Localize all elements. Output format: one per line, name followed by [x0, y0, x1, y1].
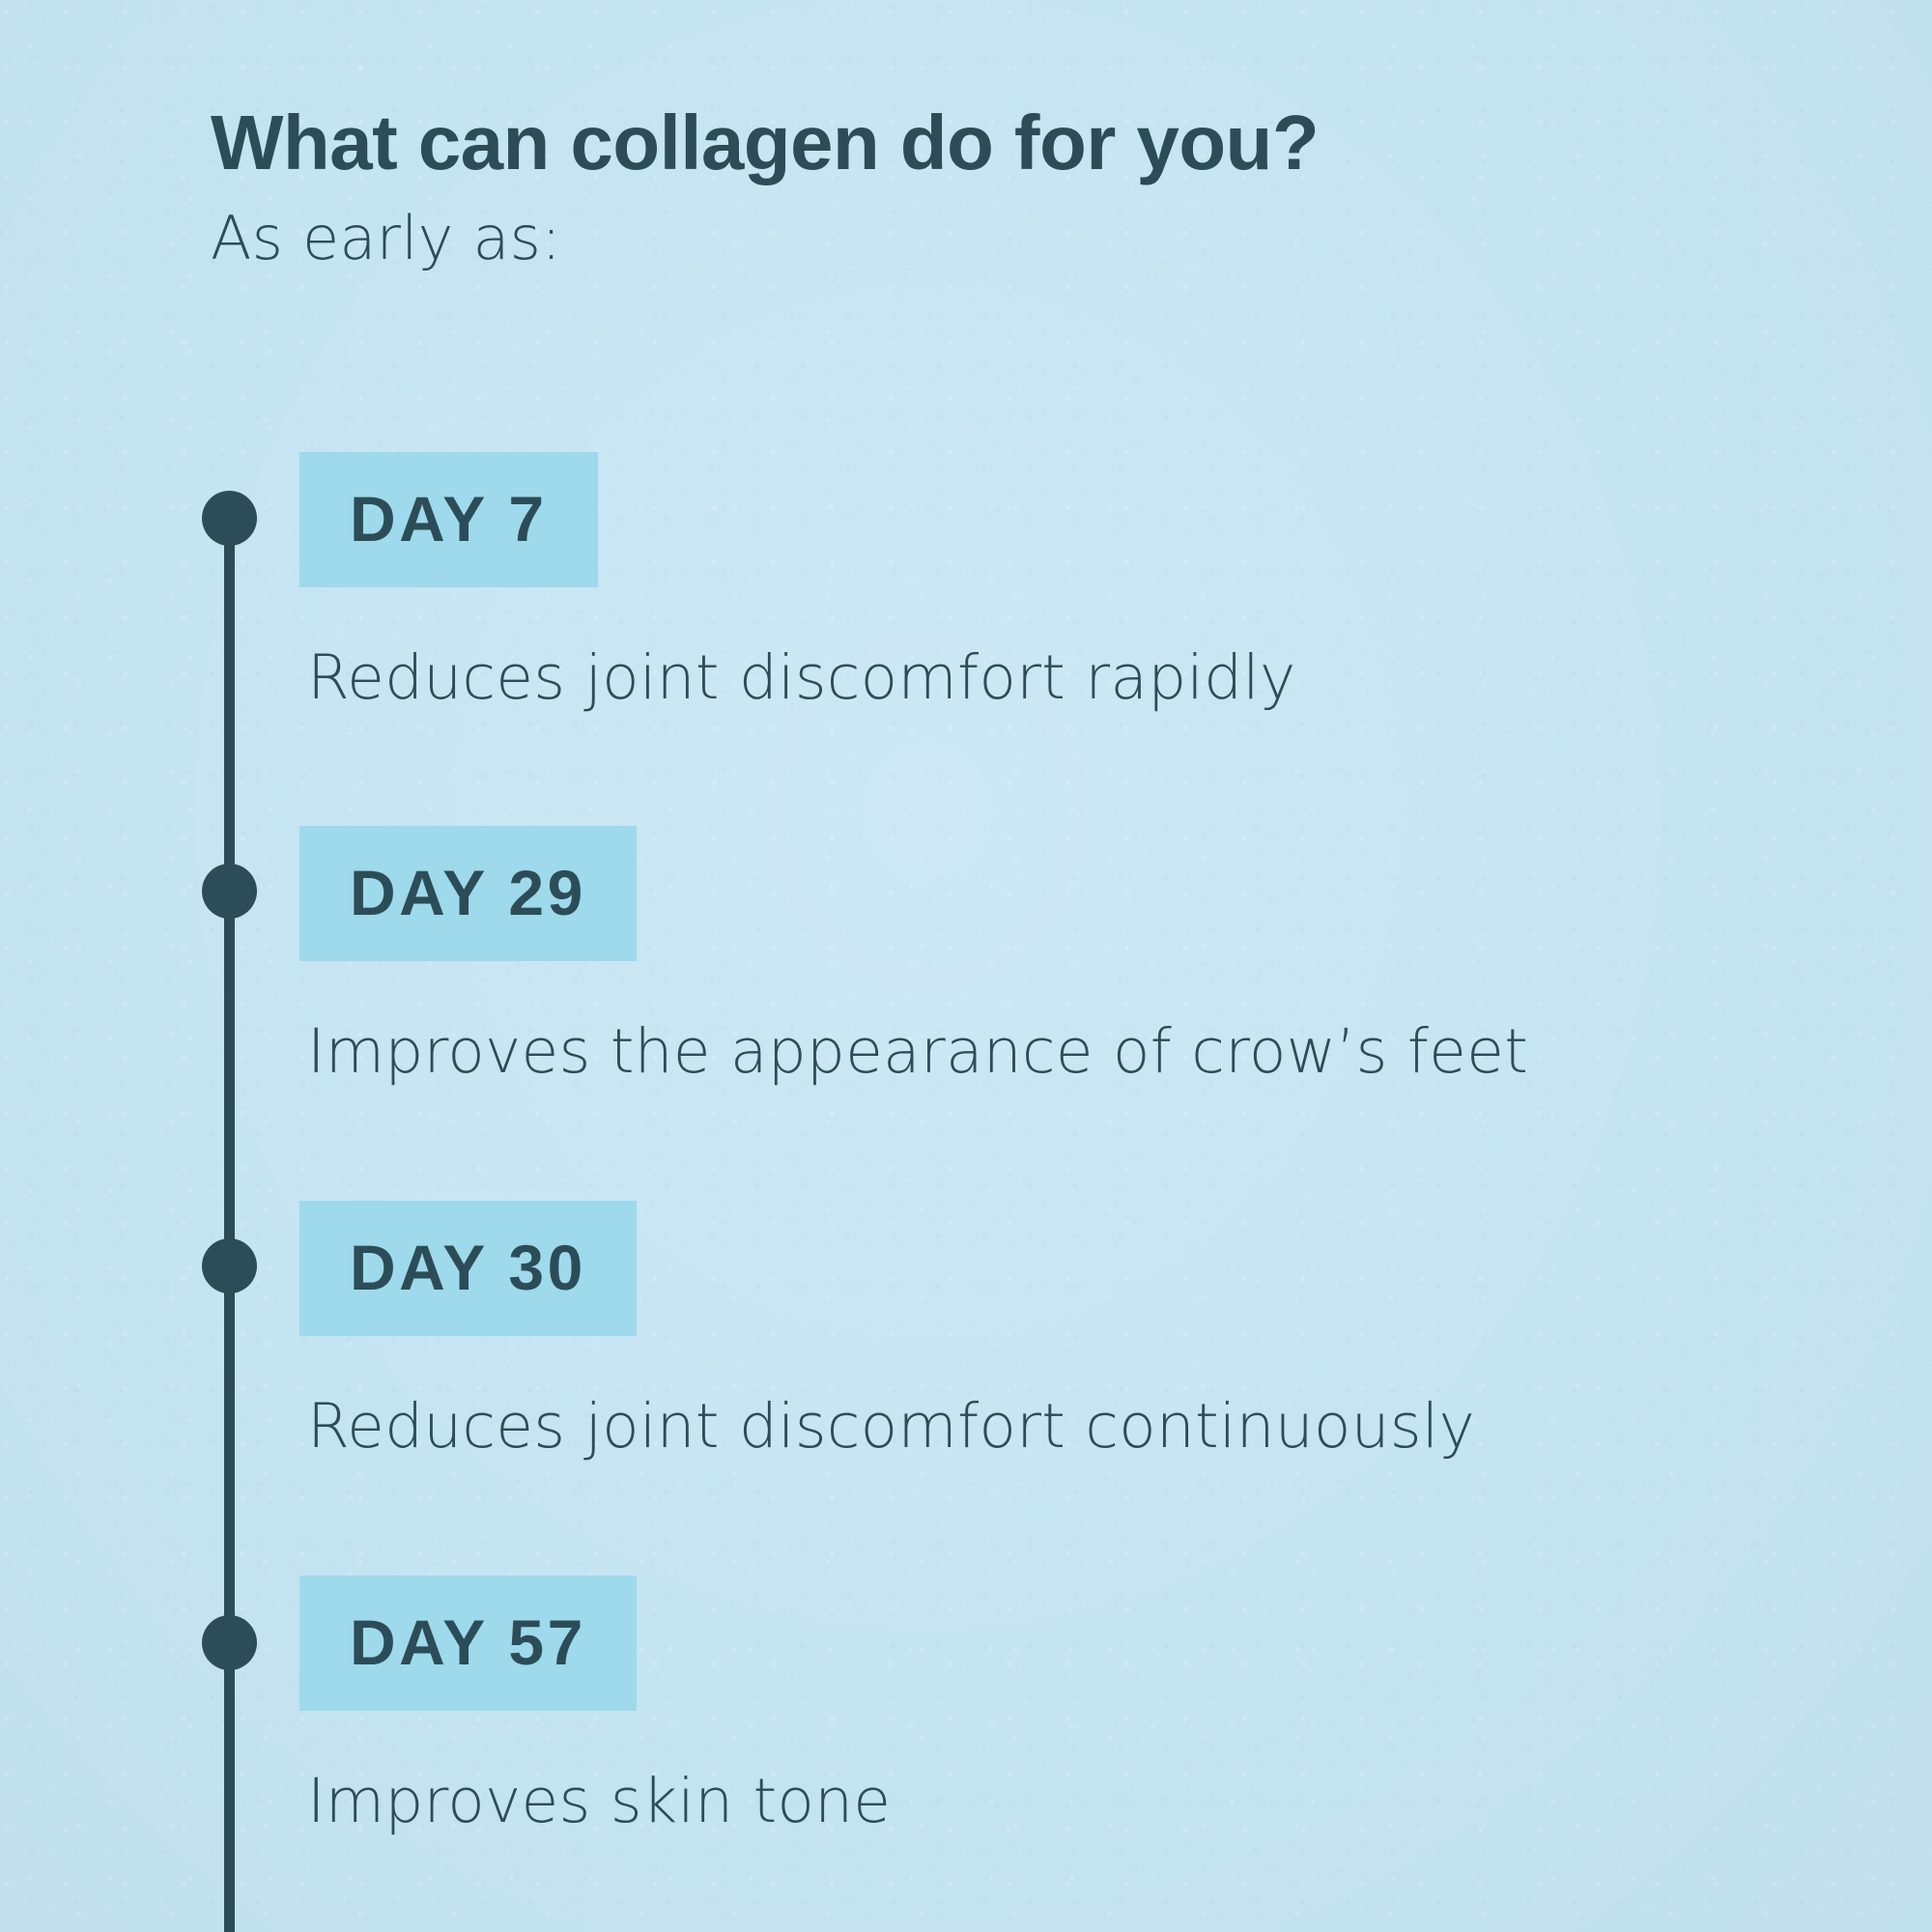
day-badge: DAY 57	[299, 1576, 637, 1711]
day-badge: DAY 30	[299, 1201, 637, 1336]
day-badge-label: DAY 7	[350, 487, 548, 551]
timeline-dot-icon	[202, 864, 257, 919]
timeline-entry: DAY 57 Improves skin tone	[299, 1576, 891, 1832]
day-badge-label: DAY 29	[350, 861, 586, 924]
page-subtitle: As early as:	[211, 182, 1795, 269]
entry-description: Improves the appearance of crow’s feet	[299, 961, 1528, 1082]
day-badge-label: DAY 57	[350, 1610, 586, 1674]
timeline-rail	[224, 518, 235, 1932]
entry-description: Improves skin tone	[299, 1711, 891, 1832]
day-badge-label: DAY 30	[350, 1236, 586, 1299]
heading-block: What can collagen do for you? As early a…	[211, 104, 1795, 269]
day-badge: DAY 7	[299, 452, 598, 587]
day-badge: DAY 29	[299, 826, 637, 961]
entry-description: Reduces joint discomfort rapidly	[299, 587, 1295, 708]
timeline-entry: DAY 29 Improves the appearance of crow’s…	[299, 826, 1528, 1082]
timeline-entry: DAY 30 Reduces joint discomfort continuo…	[299, 1201, 1475, 1457]
timeline-dot-icon	[202, 1238, 257, 1293]
timeline-dot-icon	[202, 491, 257, 546]
timeline-entry: DAY 7 Reduces joint discomfort rapidly	[299, 452, 1295, 708]
timeline-dot-icon	[202, 1615, 257, 1670]
entry-description: Reduces joint discomfort continuously	[299, 1336, 1475, 1457]
page-title: What can collagen do for you?	[211, 104, 1795, 182]
infographic-canvas: What can collagen do for you? As early a…	[0, 0, 1932, 1932]
